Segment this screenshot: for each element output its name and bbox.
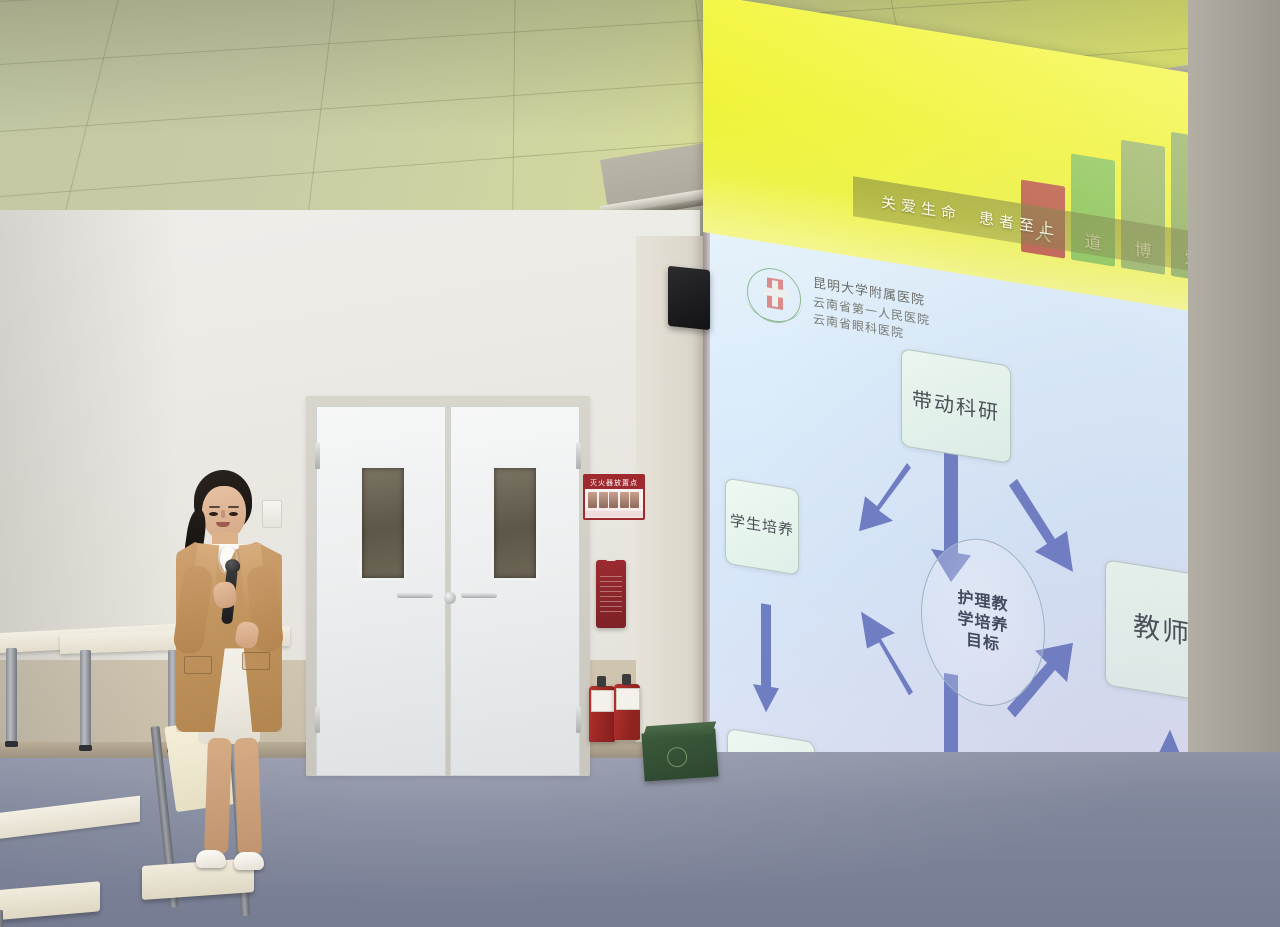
- wall-speaker-icon: [668, 266, 710, 330]
- double-door[interactable]: [306, 396, 590, 776]
- fire-extinguisher-2: [614, 684, 640, 740]
- fire-extinguisher-1: [589, 686, 615, 742]
- door-hinge-top-left: [315, 443, 320, 469]
- diagram-node-top[interactable]: 带动科研: [901, 348, 1011, 464]
- presenter-leg-left: [204, 738, 232, 855]
- chair-far-left[interactable]: [0, 862, 110, 927]
- door-hinge-bottom-left: [315, 707, 320, 733]
- photo-scene: 人道博爱奉献 关爱生命 患者至上 昆明大学附属医院 云南省第一人民医院 云南省眼…: [0, 0, 1280, 927]
- door-hinge-bottom-right: [576, 707, 581, 733]
- presenter-pocket-left: [184, 656, 212, 674]
- presenter-nose: [221, 510, 225, 518]
- fire-blanket-pouch: [596, 560, 626, 628]
- presenter: [150, 470, 300, 890]
- arrow-student-to-selfstudy: [753, 602, 779, 716]
- arrow-center-to-student: [851, 598, 923, 700]
- fire-sign-header-text: 灭火器放置点: [585, 476, 643, 489]
- door-hinge-top-right: [576, 443, 581, 469]
- cardboard-carton: [641, 728, 718, 781]
- fire-extinguisher-sign: 灭火器放置点: [583, 474, 645, 520]
- presenter-leg-right: [234, 738, 262, 857]
- door-window-right: [491, 465, 539, 581]
- door-handle-left[interactable]: [397, 593, 433, 598]
- fire-sign-pictograms: [585, 489, 643, 511]
- door-lock-icon[interactable]: [444, 592, 456, 604]
- door-leaf-left[interactable]: [316, 406, 446, 776]
- diagram-center-goal-label: 护理教学培养目标: [957, 587, 1008, 658]
- diagram-node-student-training-label: 学生培养: [730, 513, 794, 541]
- door-leaf-right[interactable]: [450, 406, 580, 776]
- door-window-left: [359, 465, 407, 581]
- arrow-left-up: [849, 454, 919, 545]
- diagram-node-student-training[interactable]: 学生培养: [725, 478, 799, 576]
- presenter-shoe-left: [196, 850, 226, 868]
- presenter-shoe-right: [234, 852, 264, 870]
- presenter-pocket-right: [242, 652, 270, 670]
- presenter-hand-on-mic: [212, 581, 237, 610]
- diagram-node-top-label: 带动科研: [912, 387, 1000, 424]
- door-handle-right[interactable]: [461, 593, 497, 598]
